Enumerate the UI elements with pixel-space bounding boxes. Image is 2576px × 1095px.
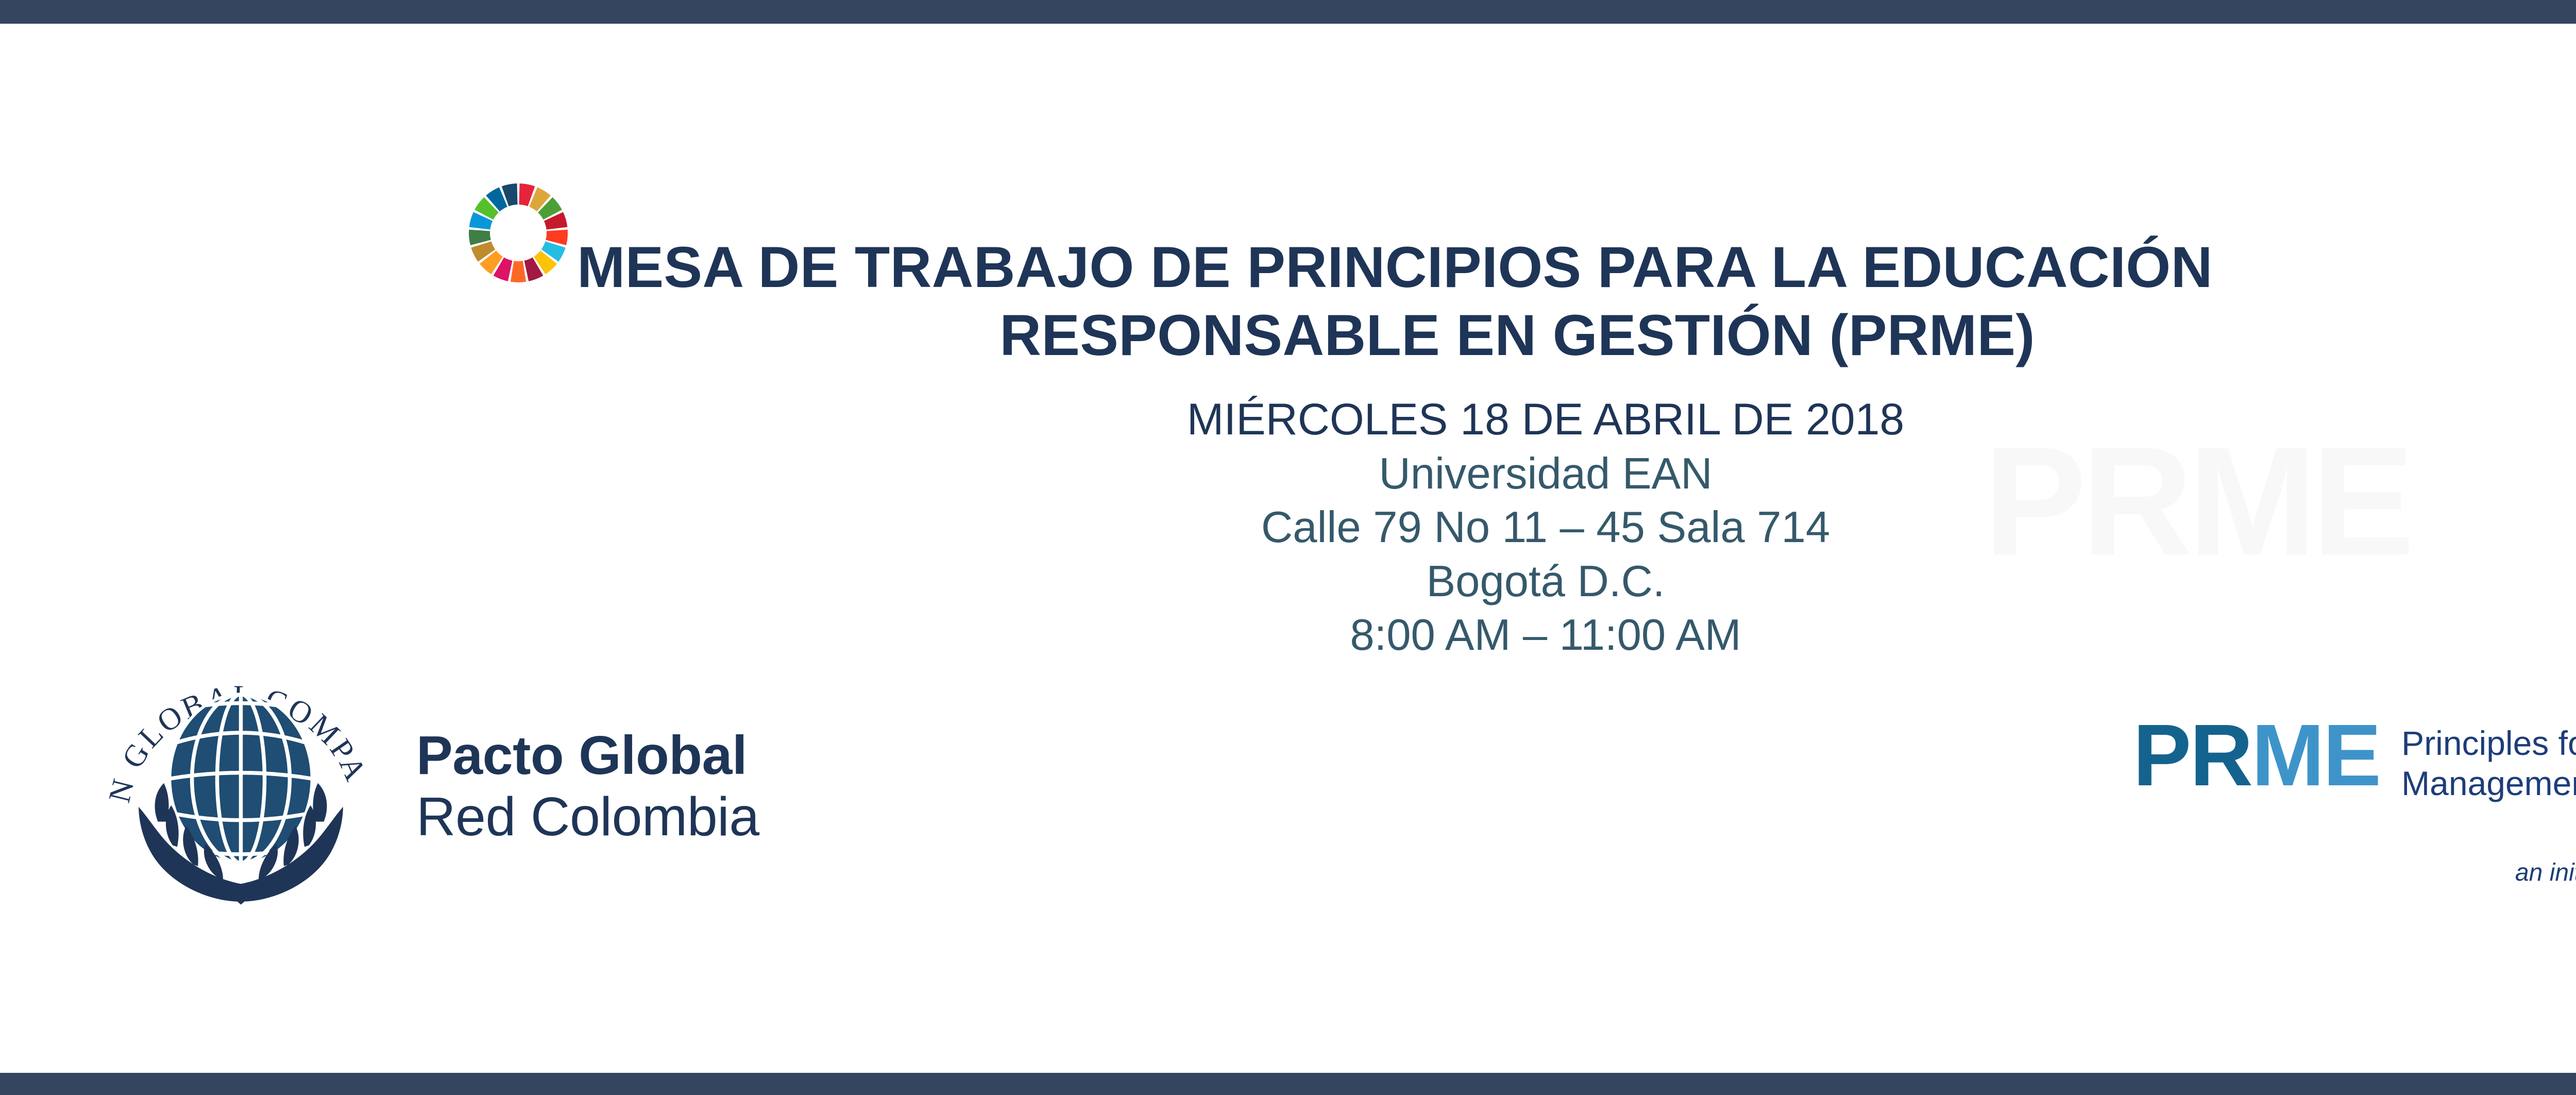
- title-line-1: MESA DE TRABAJO DE PRINCIPIOS PARA LA ED…: [577, 233, 2576, 301]
- prme-primary-row: PRME Principles for Responsible Manageme…: [2133, 717, 2576, 804]
- pacto-global-name: Pacto Global Red Colombia: [416, 725, 759, 847]
- prme-mark-part-2: ME: [2251, 706, 2380, 804]
- event-date: MIÉRCOLES 18 DE ABRIL DE 2018: [866, 393, 2226, 447]
- title-line-2: RESPONSABLE EN GESTIÓN (PRME): [577, 301, 2576, 369]
- page-title: MESA DE TRABAJO DE PRINCIPIOS PARA LA ED…: [577, 233, 2576, 369]
- bottom-rule: [0, 1073, 2576, 1095]
- sdg-wheel-icon: [467, 181, 570, 284]
- prme-wordmark-icon: PRME: [2133, 717, 2380, 795]
- prme-tagline-line-2: Management Education: [2401, 764, 2576, 804]
- event-details: MIÉRCOLES 18 DE ABRIL DE 2018 Universida…: [866, 393, 2226, 663]
- prme-initiative-row: an initiative by the UN GLOBAL COMPACT: [2133, 838, 2576, 907]
- event-banner: PRME MESA DE TRABAJO DE PRINCIPIOS PARA …: [0, 0, 2576, 1095]
- event-city: Bogotá D.C.: [866, 555, 2226, 609]
- initiative-label: an initiative by the: [2515, 858, 2576, 887]
- prme-lockup: PRME Principles for Responsible Manageme…: [2133, 717, 2576, 907]
- prme-tagline: Principles for Responsible Management Ed…: [2401, 717, 2576, 804]
- un-global-compact-icon: UN GLOBAL COMPACT: [90, 638, 392, 934]
- pacto-global-line-1: Pacto Global: [416, 725, 759, 786]
- event-venue: Universidad EAN: [866, 447, 2226, 501]
- event-address: Calle 79 No 11 – 45 Sala 714: [866, 501, 2226, 555]
- pacto-global-line-2: Red Colombia: [416, 786, 759, 848]
- pacto-global-lockup: UN GLOBAL COMPACT: [90, 638, 759, 934]
- top-rule: [0, 0, 2576, 24]
- prme-mark-part-1: PR: [2133, 706, 2251, 804]
- event-time: 8:00 AM – 11:00 AM: [866, 609, 2226, 663]
- prme-tagline-line-1: Principles for Responsible: [2401, 723, 2576, 764]
